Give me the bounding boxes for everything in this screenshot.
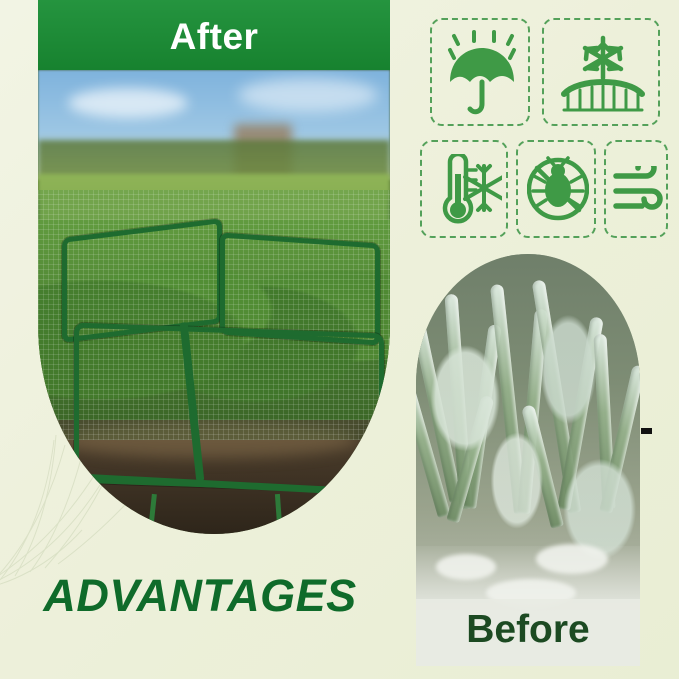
feature-box-wind-protection bbox=[604, 140, 668, 238]
after-banner: After bbox=[38, 0, 390, 70]
before-photo: Before bbox=[416, 254, 640, 666]
snow-patch bbox=[436, 554, 496, 580]
infographic-page: After ADVANTAGES bbox=[0, 0, 679, 679]
before-label: Before bbox=[416, 608, 640, 652]
feature-box-pest-protection bbox=[516, 140, 596, 238]
photo-cloud bbox=[68, 88, 188, 118]
feature-icon-grid bbox=[420, 12, 668, 248]
feature-box-rain-protection bbox=[430, 18, 530, 126]
thermometer-snowflake-icon bbox=[432, 154, 502, 228]
photo-cloud bbox=[238, 78, 378, 112]
snow-patch bbox=[536, 544, 608, 574]
feature-box-temperature-frost bbox=[420, 140, 508, 238]
after-photo bbox=[38, 70, 390, 534]
feature-box-snow-protection bbox=[542, 18, 660, 126]
edge-tick-mark bbox=[641, 428, 652, 434]
cloche-frame-panel bbox=[74, 323, 384, 494]
before-panel: Before bbox=[416, 254, 640, 666]
umbrella-rain-icon bbox=[444, 30, 520, 118]
advantages-caption: ADVANTAGES bbox=[0, 570, 400, 622]
after-panel: After bbox=[38, 0, 390, 566]
after-label: After bbox=[38, 16, 390, 58]
wind-lines-icon bbox=[612, 166, 664, 216]
no-bug-icon bbox=[527, 156, 589, 226]
snowflake-cover-icon bbox=[560, 32, 646, 118]
